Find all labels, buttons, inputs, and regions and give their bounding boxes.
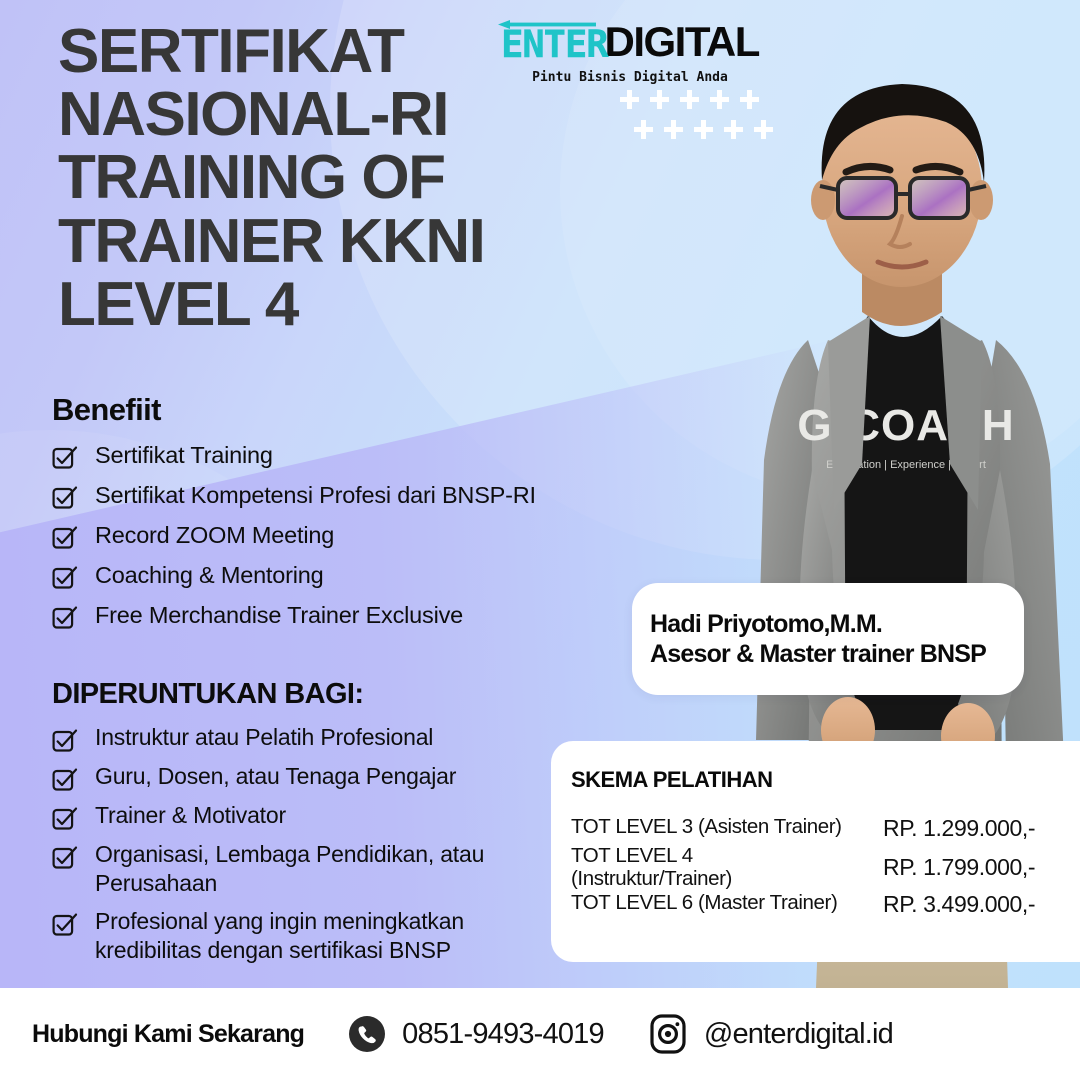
contact-footer: Hubungi Kami Sekarang 0851-9493-4019 @en… — [0, 988, 1080, 1080]
list-item-label: Guru, Dosen, atau Tenaga Pengajar — [95, 762, 456, 791]
plus-icon — [620, 90, 639, 109]
list-item: Record ZOOM Meeting — [52, 520, 592, 551]
plus-icon — [710, 90, 729, 109]
page-title: SERTIFIKAT NASIONAL-RI TRAINING OF TRAIN… — [58, 20, 578, 336]
list-item-label: Coaching & Mentoring — [95, 560, 324, 590]
checkbox-checked-icon — [52, 485, 78, 511]
plus-icon — [680, 90, 699, 109]
plus-icon — [694, 120, 713, 139]
checkbox-checked-icon — [52, 525, 78, 551]
title-line: LEVEL 4 — [58, 273, 578, 336]
svg-text:G-COACH: G-COACH — [797, 401, 1014, 450]
plus-decoration-grid — [620, 90, 765, 142]
logo-digital-label: DIGITAL — [605, 21, 759, 63]
plus-icon — [634, 120, 653, 139]
pricing-label: TOT LEVEL 4 (Instruktur/Trainer) — [571, 844, 883, 890]
plus-icon — [664, 120, 683, 139]
checkbox-checked-icon — [52, 728, 78, 754]
list-item: Trainer & Motivator — [52, 801, 572, 832]
speaker-role: Asesor & Master trainer BNSP — [650, 639, 1006, 669]
instagram-contact[interactable]: @enterdigital.id — [646, 1012, 893, 1056]
pricing-row: TOT LEVEL 3 (Asisten Trainer) RP. 1.299.… — [571, 815, 1080, 842]
list-item-label: Profesional yang ingin meningkatkan kred… — [95, 907, 572, 966]
list-item: Free Merchandise Trainer Exclusive — [52, 600, 592, 631]
checkbox-checked-icon — [52, 445, 78, 471]
pricing-row: TOT LEVEL 4 (Instruktur/Trainer) RP. 1.7… — [571, 844, 1080, 890]
pricing-heading: SKEMA PELATIHAN — [571, 767, 1080, 793]
list-item-label: Free Merchandise Trainer Exclusive — [95, 600, 463, 630]
pricing-label: TOT LEVEL 3 (Asisten Trainer) — [571, 815, 883, 838]
title-line: TRAINER KKNI — [58, 210, 578, 273]
checkbox-checked-icon — [52, 845, 78, 871]
pricing-label-line: TOT LEVEL 4 — [571, 844, 693, 867]
phone-number: 0851-9493-4019 — [402, 1018, 604, 1051]
checkbox-checked-icon — [52, 565, 78, 591]
list-item-label: Instruktur atau Pelatih Profesional — [95, 723, 433, 752]
checkbox-checked-icon — [52, 605, 78, 631]
pricing-card: SKEMA PELATIHAN TOT LEVEL 3 (Asisten Tra… — [551, 741, 1080, 962]
list-item: Guru, Dosen, atau Tenaga Pengajar — [52, 762, 572, 793]
phone-icon — [346, 1013, 388, 1055]
speaker-name: Hadi Priyotomo,M.M. — [650, 609, 1006, 639]
checkbox-checked-icon — [52, 806, 78, 832]
title-line: TRAINING OF — [58, 146, 578, 209]
plus-icon — [650, 90, 669, 109]
list-item: Instruktur atau Pelatih Profesional — [52, 723, 572, 754]
list-item: Profesional yang ingin meningkatkan kred… — [52, 907, 572, 966]
list-item-label: Record ZOOM Meeting — [95, 520, 334, 550]
plus-icon — [754, 120, 773, 139]
instagram-handle: @enterdigital.id — [704, 1018, 893, 1051]
target-audience-section: DIPERUNTUKAN BAGI: Instruktur atau Pelat… — [52, 678, 572, 974]
list-item-label: Sertifikat Kompetensi Profesi dari BNSP-… — [95, 480, 536, 510]
phone-contact[interactable]: 0851-9493-4019 — [346, 1013, 604, 1055]
list-item-label: Organisasi, Lembaga Pendidikan, atau Per… — [95, 840, 572, 899]
pricing-value: RP. 3.499.000,- — [883, 891, 1035, 918]
poster-root: G-COACH Exploration | Experience | Exper… — [0, 0, 1080, 1080]
pricing-value: RP. 1.799.000,- — [883, 854, 1035, 881]
title-line: SERTIFIKAT — [58, 20, 578, 83]
list-item-label: Sertifikat Training — [95, 440, 273, 470]
list-item: Organisasi, Lembaga Pendidikan, atau Per… — [52, 840, 572, 899]
list-item: Sertifikat Kompetensi Profesi dari BNSP-… — [52, 480, 592, 511]
title-line: NASIONAL-RI — [58, 83, 578, 146]
benefit-heading: Benefiit — [52, 392, 592, 428]
checkbox-checked-icon — [52, 912, 78, 938]
plus-icon — [724, 120, 743, 139]
pricing-label-line: (Instruktur/Trainer) — [571, 867, 732, 890]
benefit-section: Benefiit Sertifikat Training Sertifikat … — [52, 392, 592, 640]
list-item: Sertifikat Training — [52, 440, 592, 471]
list-item: Coaching & Mentoring — [52, 560, 592, 591]
pricing-label: TOT LEVEL 6 (Master Trainer) — [571, 891, 883, 914]
benefit-list: Sertifikat Training Sertifikat Kompetens… — [52, 440, 592, 631]
contact-cta-label: Hubungi Kami Sekarang — [32, 1020, 304, 1049]
list-item-label: Trainer & Motivator — [95, 801, 286, 830]
checkbox-checked-icon — [52, 767, 78, 793]
target-list: Instruktur atau Pelatih Profesional Guru… — [52, 723, 572, 966]
instagram-icon — [646, 1012, 690, 1056]
pricing-row: TOT LEVEL 6 (Master Trainer) RP. 3.499.0… — [571, 891, 1080, 918]
pricing-value: RP. 1.299.000,- — [883, 815, 1035, 842]
target-heading: DIPERUNTUKAN BAGI: — [52, 678, 572, 711]
plus-icon — [740, 90, 759, 109]
speaker-name-card: Hadi Priyotomo,M.M. Asesor & Master trai… — [632, 583, 1024, 695]
